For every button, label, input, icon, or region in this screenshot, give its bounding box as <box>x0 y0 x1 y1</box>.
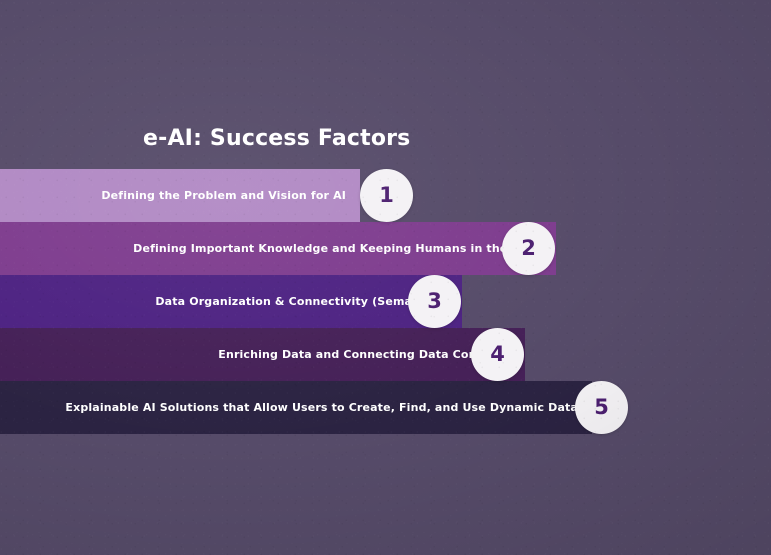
success-factor-label: Explainable AI Solutions that Allow User… <box>65 401 592 414</box>
success-factor-bar[interactable]: Defining the Problem and Vision for AI <box>0 169 360 222</box>
success-factor-bar[interactable]: Explainable AI Solutions that Allow User… <box>0 381 592 434</box>
step-number-badge[interactable]: 1 <box>360 169 413 222</box>
step-number-badge[interactable]: 3 <box>408 275 461 328</box>
success-factor-bar[interactable]: Enriching Data and Connecting Data Conce… <box>0 328 525 381</box>
success-factor-label: Defining the Problem and Vision for AI <box>101 189 360 202</box>
success-factor-label: Defining Important Knowledge and Keeping… <box>133 242 556 255</box>
step-number-badge[interactable]: 2 <box>502 222 555 275</box>
step-number-text: 1 <box>379 185 394 206</box>
step-number-text: 5 <box>594 397 609 418</box>
step-number-text: 4 <box>490 344 505 365</box>
step-number-text: 2 <box>521 238 536 259</box>
page-title: e-AI: Success Factors <box>143 126 410 151</box>
infographic-canvas: Defining the Problem and Vision for AI1D… <box>0 0 771 555</box>
success-factor-bar[interactable]: Defining Important Knowledge and Keeping… <box>0 222 556 275</box>
step-number-badge[interactable]: 4 <box>471 328 524 381</box>
step-number-badge[interactable]: 5 <box>575 381 628 434</box>
success-factor-bar[interactable]: Data Organization & Connectivity (Semant… <box>0 275 462 328</box>
step-number-text: 3 <box>427 291 442 312</box>
